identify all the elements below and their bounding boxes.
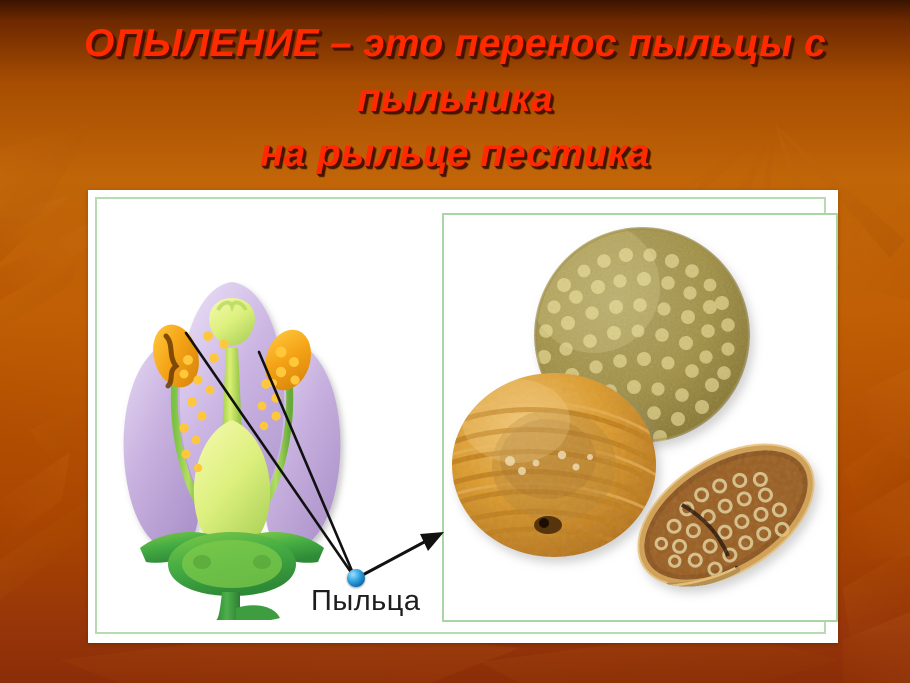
leaf <box>236 605 280 620</box>
pollen-photo-frame <box>442 213 838 622</box>
content-panel <box>88 190 838 643</box>
slide: ОПЫЛЕНИЕ – это перенос пыльцы с пыльника… <box>0 0 910 683</box>
flower-cross-section <box>98 240 368 620</box>
pollen-label: Пыльца <box>311 585 420 618</box>
sepals <box>140 532 324 596</box>
pollen-photographs <box>444 215 832 616</box>
